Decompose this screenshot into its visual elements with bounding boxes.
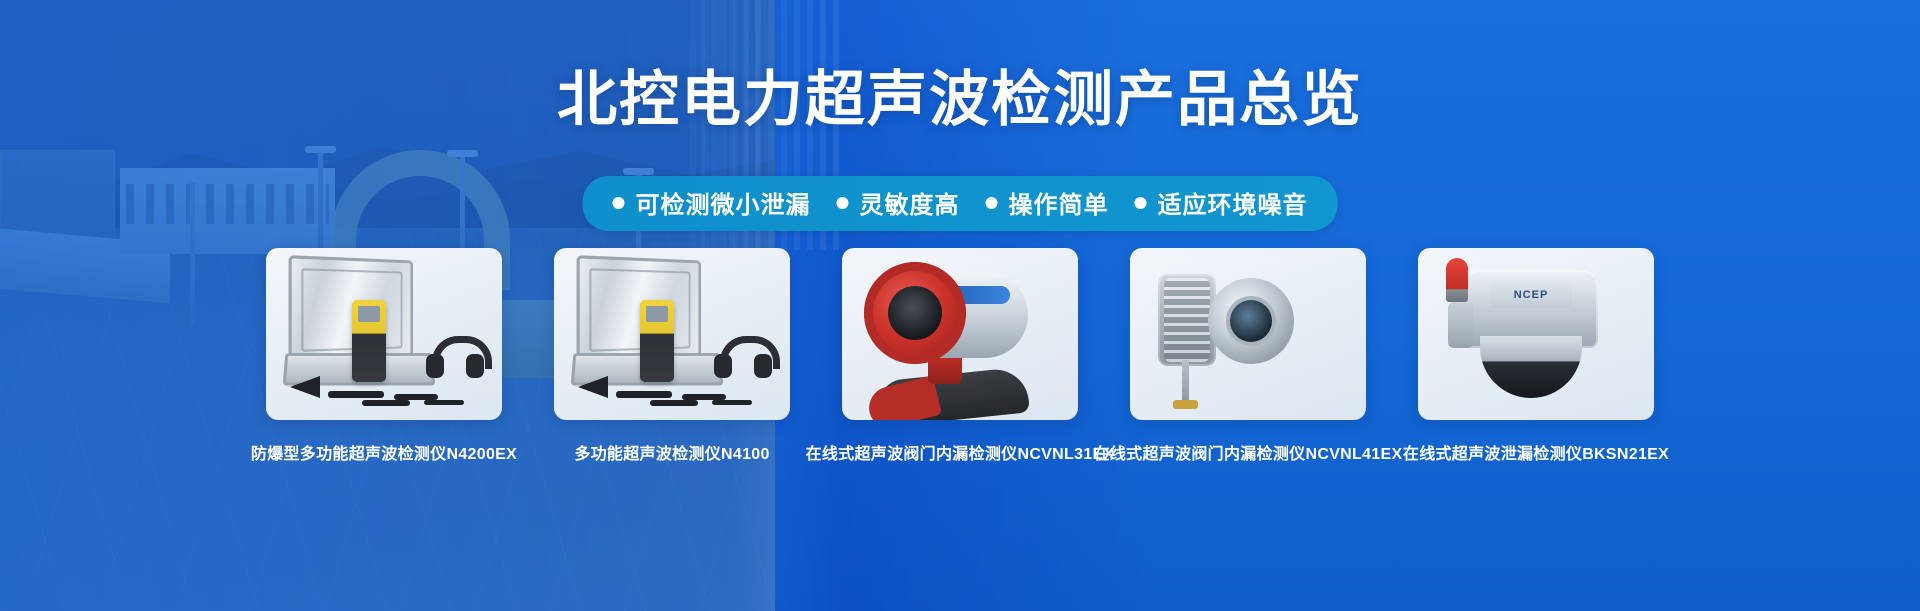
product-caption: 在线式超声波阀门内漏检测仪NCVNL31EX (806, 440, 1115, 464)
feature-pill-bar: 可检测微小泄漏 灵敏度高 操作简单 适应环境噪音 (583, 176, 1338, 231)
product-image-n4200ex (266, 248, 502, 420)
probe-rod (616, 391, 672, 398)
probe-rod (328, 391, 384, 398)
beacon-light-icon (1446, 258, 1468, 302)
product-image-n4100 (554, 248, 790, 420)
handheld-detector-shape (640, 300, 674, 382)
lens-head-shape (1208, 278, 1294, 364)
probe-rod (712, 400, 752, 405)
product-card[interactable]: NCEP 在线式超声波泄漏检测仪BKSN21EX (1418, 248, 1654, 464)
feature-item: 操作简单 (986, 185, 1109, 220)
product-card[interactable]: 在线式超声波阀门内漏检测仪NCVNL31EX (842, 248, 1078, 464)
feature-label: 灵敏度高 (860, 185, 960, 220)
case-lid-shape (577, 255, 702, 365)
product-caption: 在线式超声波阀门内漏检测仪NCVNL41EX (1094, 440, 1403, 464)
page-title: 北控电力超声波检测产品总览 (0, 68, 1920, 131)
product-card[interactable]: 防爆型多功能超声波检测仪N4200EX (266, 248, 502, 464)
product-overview-banner: 北控电力超声波检测产品总览 可检测微小泄漏 灵敏度高 操作简单 适应环境噪音 (0, 0, 1920, 611)
product-card-list: 防爆型多功能超声波检测仪N4200EX 多功能超声波检测仪N4100 (0, 248, 1920, 464)
probe-rod (650, 400, 698, 406)
dot-icon (1135, 197, 1147, 209)
product-image-ncvnl41ex (1130, 248, 1366, 420)
feature-item: 可检测微小泄漏 (613, 185, 811, 220)
product-image-ncvnl31ex (842, 248, 1078, 420)
cone-probe-shape (290, 376, 320, 398)
headphone-icon (426, 336, 484, 380)
probe-rod (424, 400, 464, 405)
product-card[interactable]: 多功能超声波检测仪N4100 (554, 248, 790, 464)
dot-icon (613, 197, 625, 209)
probe-rod (362, 400, 410, 406)
feature-label: 适应环境噪音 (1158, 185, 1308, 220)
dome-arm-shape (1448, 302, 1474, 348)
banner-content: 北控电力超声波检测产品总览 可检测微小泄漏 灵敏度高 操作简单 适应环境噪音 (0, 0, 1920, 611)
dot-icon (986, 197, 998, 209)
mounting-stem-shape (1182, 360, 1189, 406)
product-image-bksn21ex: NCEP (1418, 248, 1654, 420)
dot-icon (837, 197, 849, 209)
product-caption: 在线式超声波泄漏检测仪BKSN21EX (1403, 440, 1669, 464)
product-card[interactable]: 在线式超声波阀门内漏检测仪NCVNL41EX (1130, 248, 1366, 464)
feature-label: 可检测微小泄漏 (636, 185, 811, 220)
red-flange-ring-shape (864, 262, 966, 364)
feature-item: 适应环境噪音 (1135, 185, 1308, 220)
cone-probe-shape (578, 376, 608, 398)
headphone-icon (714, 336, 772, 380)
product-caption: 多功能超声波检测仪N4100 (574, 440, 769, 464)
case-lid-shape (289, 255, 414, 365)
brand-mark: NCEP (1490, 282, 1572, 308)
product-caption: 防爆型多功能超声波检测仪N4200EX (251, 440, 517, 464)
dome-bowl-shape (1480, 336, 1582, 398)
feature-item: 灵敏度高 (837, 185, 960, 220)
feature-label: 操作简单 (1009, 185, 1109, 220)
handheld-detector-shape (352, 300, 386, 382)
